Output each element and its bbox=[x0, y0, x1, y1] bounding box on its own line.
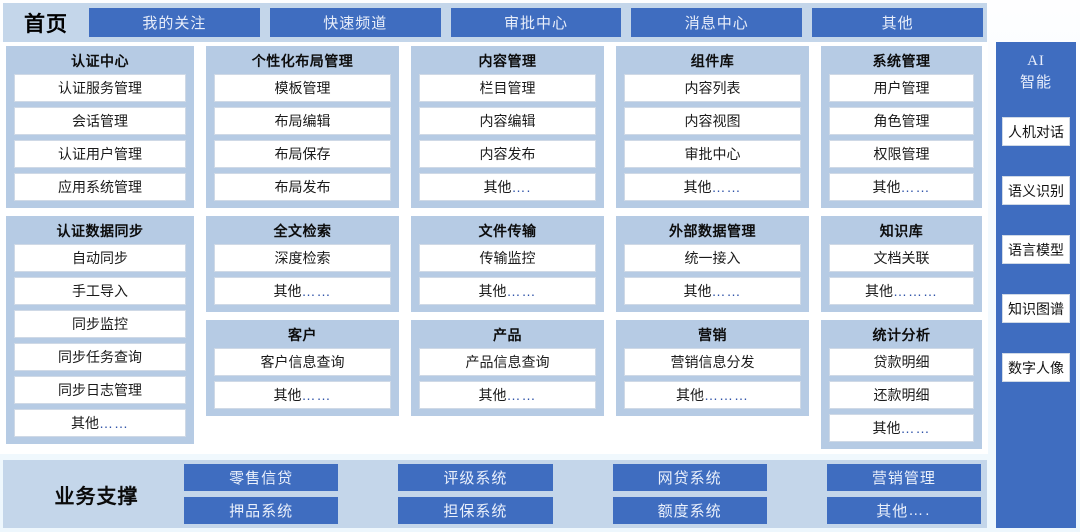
module-group-title: 系统管理 bbox=[829, 50, 974, 74]
module-item[interactable]: 认证服务管理 bbox=[14, 74, 186, 102]
module-item[interactable]: 布局保存 bbox=[214, 140, 391, 168]
business-system-label: 担保系统 bbox=[443, 500, 507, 521]
module-item[interactable]: 审批中心 bbox=[624, 140, 801, 168]
module-group: 文件传输传输监控其他…… bbox=[411, 216, 604, 312]
module-item-label: 其他 bbox=[676, 385, 704, 405]
ellipsis-glyph: …… bbox=[712, 179, 742, 195]
module-item-label: 其他 bbox=[274, 281, 302, 301]
business-system-button[interactable]: 营销管理 bbox=[827, 464, 981, 491]
module-item[interactable]: 其他…… bbox=[214, 381, 391, 409]
ai-item-1[interactable]: 人机对话 bbox=[1002, 117, 1070, 146]
module-item[interactable]: 其他…… bbox=[14, 409, 186, 437]
ellipsis-glyph: …… bbox=[302, 283, 332, 299]
business-support-label: 业务支撑 bbox=[9, 480, 184, 509]
module-item-label: 应用系统管理 bbox=[58, 177, 142, 197]
ai-item-label: 人机对话 bbox=[1008, 122, 1064, 142]
module-item-label: 其他 bbox=[484, 177, 512, 197]
module-item[interactable]: 深度检索 bbox=[214, 244, 391, 272]
business-system-button[interactable]: 其他 …. bbox=[827, 497, 981, 524]
business-system-label: 其他 bbox=[876, 500, 908, 521]
ellipsis-glyph: …… bbox=[507, 387, 537, 403]
module-item[interactable]: 产品信息查询 bbox=[419, 348, 596, 376]
module-item[interactable]: 自动同步 bbox=[14, 244, 186, 272]
module-item-label: 认证用户管理 bbox=[58, 144, 142, 164]
module-group: 组件库内容列表内容视图审批中心其他…… bbox=[616, 46, 809, 208]
tab-label: 快速频道 bbox=[323, 12, 387, 33]
module-item-label: 贷款明细 bbox=[874, 352, 930, 372]
module-group-title: 内容管理 bbox=[419, 50, 596, 74]
module-item[interactable]: 其他……… bbox=[624, 381, 801, 409]
ai-item-label: 语言模型 bbox=[1008, 240, 1064, 260]
module-item-label: 布局保存 bbox=[275, 144, 331, 164]
module-item-label: 营销信息分发 bbox=[671, 352, 755, 372]
module-item[interactable]: 权限管理 bbox=[829, 140, 974, 168]
module-item[interactable]: 布局编辑 bbox=[214, 107, 391, 135]
module-item[interactable]: 会话管理 bbox=[14, 107, 186, 135]
tab-label: 其他 bbox=[882, 12, 914, 33]
module-item-label: 还款明细 bbox=[874, 385, 930, 405]
module-item-label: 其他 bbox=[684, 281, 712, 301]
module-item[interactable]: 贷款明细 bbox=[829, 348, 974, 376]
module-column-4: 组件库内容列表内容视图审批中心其他……外部数据管理统一接入其他……营销营销信息分… bbox=[610, 42, 815, 454]
module-item[interactable]: 营销信息分发 bbox=[624, 348, 801, 376]
module-group: 认证数据同步自动同步手工导入同步监控同步任务查询同步日志管理其他…… bbox=[6, 216, 194, 444]
module-item[interactable]: 其他…… bbox=[419, 381, 596, 409]
module-item[interactable]: 其他…… bbox=[624, 277, 801, 305]
ellipsis-glyph: …… bbox=[712, 283, 742, 299]
business-system-button[interactable]: 评级系统 bbox=[398, 464, 552, 491]
module-item-label: 认证服务管理 bbox=[58, 78, 142, 98]
module-item[interactable]: 内容视图 bbox=[624, 107, 801, 135]
module-item-label: 产品信息查询 bbox=[466, 352, 550, 372]
module-item-label: 角色管理 bbox=[874, 111, 930, 131]
ai-item-3[interactable]: 语言模型 bbox=[1002, 235, 1070, 264]
tab-4[interactable]: 消息中心 bbox=[631, 8, 802, 37]
module-item[interactable]: 传输监控 bbox=[419, 244, 596, 272]
module-group-title: 全文检索 bbox=[214, 220, 391, 244]
module-item[interactable]: 客户信息查询 bbox=[214, 348, 391, 376]
module-group-title: 文件传输 bbox=[419, 220, 596, 244]
business-system-label: 营销管理 bbox=[872, 467, 936, 488]
business-system-grid: 零售信贷评级系统网贷系统营销管理押品系统担保系统额度系统其他 …. bbox=[184, 464, 981, 524]
module-group-title: 认证中心 bbox=[14, 50, 186, 74]
ellipsis-glyph: ……… bbox=[704, 387, 749, 403]
module-item[interactable]: 其他…… bbox=[419, 277, 596, 305]
ai-sidebar-title: AI 智能 bbox=[1020, 50, 1052, 93]
module-item[interactable]: 内容发布 bbox=[419, 140, 596, 168]
module-item[interactable]: 其他…… bbox=[624, 173, 801, 201]
module-group: 知识库文档关联其他……… bbox=[821, 216, 982, 312]
module-item-label: 其他 bbox=[479, 281, 507, 301]
ai-sidebar: AI 智能 人机对话语义识别语言模型知识图谱数字人像 bbox=[996, 42, 1076, 528]
ellipsis-glyph: …… bbox=[901, 420, 931, 436]
ellipsis-glyph: ……… bbox=[893, 283, 938, 299]
business-system-label: 零售信贷 bbox=[229, 467, 293, 488]
module-item[interactable]: 其他……… bbox=[829, 277, 974, 305]
ellipsis-glyph: …… bbox=[901, 179, 931, 195]
module-item[interactable]: 用户管理 bbox=[829, 74, 974, 102]
ellipsis-glyph: …… bbox=[302, 387, 332, 403]
module-item-label: 内容发布 bbox=[480, 144, 536, 164]
module-item-label: 其他 bbox=[865, 281, 893, 301]
module-column-1: 认证中心认证服务管理会话管理认证用户管理应用系统管理认证数据同步自动同步手工导入… bbox=[0, 42, 200, 454]
module-group: 统计分析贷款明细还款明细其他…… bbox=[821, 320, 982, 449]
module-item-label: 布局编辑 bbox=[275, 111, 331, 131]
ai-item-label: 语义识别 bbox=[1008, 181, 1064, 201]
module-item-label: 内容编辑 bbox=[480, 111, 536, 131]
module-item[interactable]: 手工导入 bbox=[14, 277, 186, 305]
module-item-label: 同步监控 bbox=[72, 314, 128, 334]
module-item[interactable]: 布局发布 bbox=[214, 173, 391, 201]
ai-item-4[interactable]: 知识图谱 bbox=[1002, 294, 1070, 323]
ellipsis-glyph: …… bbox=[507, 283, 537, 299]
architecture-diagram-canvas: 首页 我的关注快速频道审批中心消息中心其他 认证中心认证服务管理会话管理认证用户… bbox=[0, 0, 1080, 532]
tab-3[interactable]: 审批中心 bbox=[451, 8, 622, 37]
module-item-label: 客户信息查询 bbox=[261, 352, 345, 372]
module-item-label: 其他 bbox=[274, 385, 302, 405]
module-item-label: 其他 bbox=[873, 418, 901, 438]
module-group-title: 认证数据同步 bbox=[14, 220, 186, 244]
tab-label: 我的关注 bbox=[142, 12, 206, 33]
business-system-button[interactable]: 零售信贷 bbox=[184, 464, 338, 491]
module-item[interactable]: 内容列表 bbox=[624, 74, 801, 102]
business-system-label: 押品系统 bbox=[229, 500, 293, 521]
business-system-button[interactable]: 额度系统 bbox=[613, 497, 767, 524]
module-column-3: 内容管理栏目管理内容编辑内容发布其他….文件传输传输监控其他……产品产品信息查询… bbox=[405, 42, 610, 454]
module-item-label: 会话管理 bbox=[72, 111, 128, 131]
tab-list: 我的关注快速频道审批中心消息中心其他 bbox=[89, 3, 987, 42]
module-item[interactable]: 其他…… bbox=[829, 173, 974, 201]
module-item[interactable]: 认证用户管理 bbox=[14, 140, 186, 168]
module-group-title: 组件库 bbox=[624, 50, 801, 74]
module-group-title: 产品 bbox=[419, 324, 596, 348]
module-item[interactable]: 文档关联 bbox=[829, 244, 974, 272]
module-group: 客户客户信息查询其他…… bbox=[206, 320, 399, 416]
module-item-label: 手工导入 bbox=[72, 281, 128, 301]
module-item-label: 深度检索 bbox=[275, 248, 331, 268]
module-group: 全文检索深度检索其他…… bbox=[206, 216, 399, 312]
module-item-label: 统一接入 bbox=[685, 248, 741, 268]
module-item-label: 内容列表 bbox=[685, 78, 741, 98]
module-item[interactable]: 栏目管理 bbox=[419, 74, 596, 102]
tab-home-label: 首页 bbox=[24, 8, 68, 38]
module-group: 产品产品信息查询其他…… bbox=[411, 320, 604, 416]
module-group-title: 外部数据管理 bbox=[624, 220, 801, 244]
ai-item-list: 人机对话语义识别语言模型知识图谱数字人像 bbox=[1002, 117, 1070, 412]
module-group: 系统管理用户管理角色管理权限管理其他…… bbox=[821, 46, 982, 208]
module-item[interactable]: 还款明细 bbox=[829, 381, 974, 409]
business-system-label: 评级系统 bbox=[443, 467, 507, 488]
module-group-title: 客户 bbox=[214, 324, 391, 348]
module-group: 内容管理栏目管理内容编辑内容发布其他…. bbox=[411, 46, 604, 208]
module-item-label: 内容视图 bbox=[685, 111, 741, 131]
module-item-label: 审批中心 bbox=[685, 144, 741, 164]
module-item-label: 其他 bbox=[479, 385, 507, 405]
tab-5[interactable]: 其他 bbox=[812, 8, 983, 37]
module-item[interactable]: 同步监控 bbox=[14, 310, 186, 338]
module-item-label: 自动同步 bbox=[72, 248, 128, 268]
module-item[interactable]: 角色管理 bbox=[829, 107, 974, 135]
ellipsis-glyph: …… bbox=[99, 415, 129, 431]
module-item[interactable]: 其他…… bbox=[214, 277, 391, 305]
module-item-label: 其他 bbox=[71, 413, 99, 433]
module-item-label: 文档关联 bbox=[874, 248, 930, 268]
module-item[interactable]: 应用系统管理 bbox=[14, 173, 186, 201]
ai-item-label: 知识图谱 bbox=[1008, 299, 1064, 319]
module-item-label: 其他 bbox=[873, 177, 901, 197]
module-item[interactable]: 其他…… bbox=[829, 414, 974, 442]
tab-2[interactable]: 快速频道 bbox=[270, 8, 441, 37]
ellipsis-glyph: …. bbox=[512, 179, 532, 195]
module-item-label: 布局发布 bbox=[275, 177, 331, 197]
module-item-label: 同步任务查询 bbox=[58, 347, 142, 367]
business-system-button[interactable]: 担保系统 bbox=[398, 497, 552, 524]
business-system-button[interactable]: 押品系统 bbox=[184, 497, 338, 524]
module-item-label: 其他 bbox=[684, 177, 712, 197]
business-system-label: 额度系统 bbox=[658, 500, 722, 521]
ai-item-label: 数字人像 bbox=[1008, 358, 1064, 378]
module-item[interactable]: 同步任务查询 bbox=[14, 343, 186, 371]
business-system-button[interactable]: 网贷系统 bbox=[613, 464, 767, 491]
ai-title-line2: 智能 bbox=[1020, 74, 1052, 91]
ai-title-line1: AI bbox=[1027, 53, 1045, 69]
module-group-title: 个性化布局管理 bbox=[214, 50, 391, 74]
module-group-title: 营销 bbox=[624, 324, 801, 348]
module-item[interactable]: 统一接入 bbox=[624, 244, 801, 272]
module-item[interactable]: 同步日志管理 bbox=[14, 376, 186, 404]
tab-1[interactable]: 我的关注 bbox=[89, 8, 260, 37]
module-group: 个性化布局管理模板管理布局编辑布局保存布局发布 bbox=[206, 46, 399, 208]
module-group: 认证中心认证服务管理会话管理认证用户管理应用系统管理 bbox=[6, 46, 194, 208]
module-item-label: 权限管理 bbox=[874, 144, 930, 164]
ellipsis-glyph: …. bbox=[908, 502, 931, 519]
tab-label: 审批中心 bbox=[504, 12, 568, 33]
module-group-title: 知识库 bbox=[829, 220, 974, 244]
module-item[interactable]: 其他…. bbox=[419, 173, 596, 201]
module-item[interactable]: 内容编辑 bbox=[419, 107, 596, 135]
top-tab-bar: 首页 我的关注快速频道审批中心消息中心其他 bbox=[3, 3, 987, 42]
tab-label: 消息中心 bbox=[685, 12, 749, 33]
module-column-5: 系统管理用户管理角色管理权限管理其他……知识库文档关联其他………统计分析贷款明细… bbox=[815, 42, 988, 454]
module-column-2: 个性化布局管理模板管理布局编辑布局保存布局发布全文检索深度检索其他……客户客户信… bbox=[200, 42, 405, 454]
ai-item-2[interactable]: 语义识别 bbox=[1002, 176, 1070, 205]
module-item-label: 传输监控 bbox=[480, 248, 536, 268]
module-group-title: 统计分析 bbox=[829, 324, 974, 348]
module-item-label: 用户管理 bbox=[874, 78, 930, 98]
module-group: 外部数据管理统一接入其他…… bbox=[616, 216, 809, 312]
module-item-label: 同步日志管理 bbox=[58, 380, 142, 400]
tab-home[interactable]: 首页 bbox=[3, 3, 89, 42]
module-item-label: 模板管理 bbox=[275, 78, 331, 98]
module-columns: 认证中心认证服务管理会话管理认证用户管理应用系统管理认证数据同步自动同步手工导入… bbox=[0, 42, 988, 454]
business-system-label: 网贷系统 bbox=[658, 467, 722, 488]
module-group: 营销营销信息分发其他……… bbox=[616, 320, 809, 416]
module-item-label: 栏目管理 bbox=[480, 78, 536, 98]
ai-item-5[interactable]: 数字人像 bbox=[1002, 353, 1070, 382]
business-support-bar: 业务支撑 零售信贷评级系统网贷系统营销管理押品系统担保系统额度系统其他 …. bbox=[3, 460, 987, 528]
module-item[interactable]: 模板管理 bbox=[214, 74, 391, 102]
